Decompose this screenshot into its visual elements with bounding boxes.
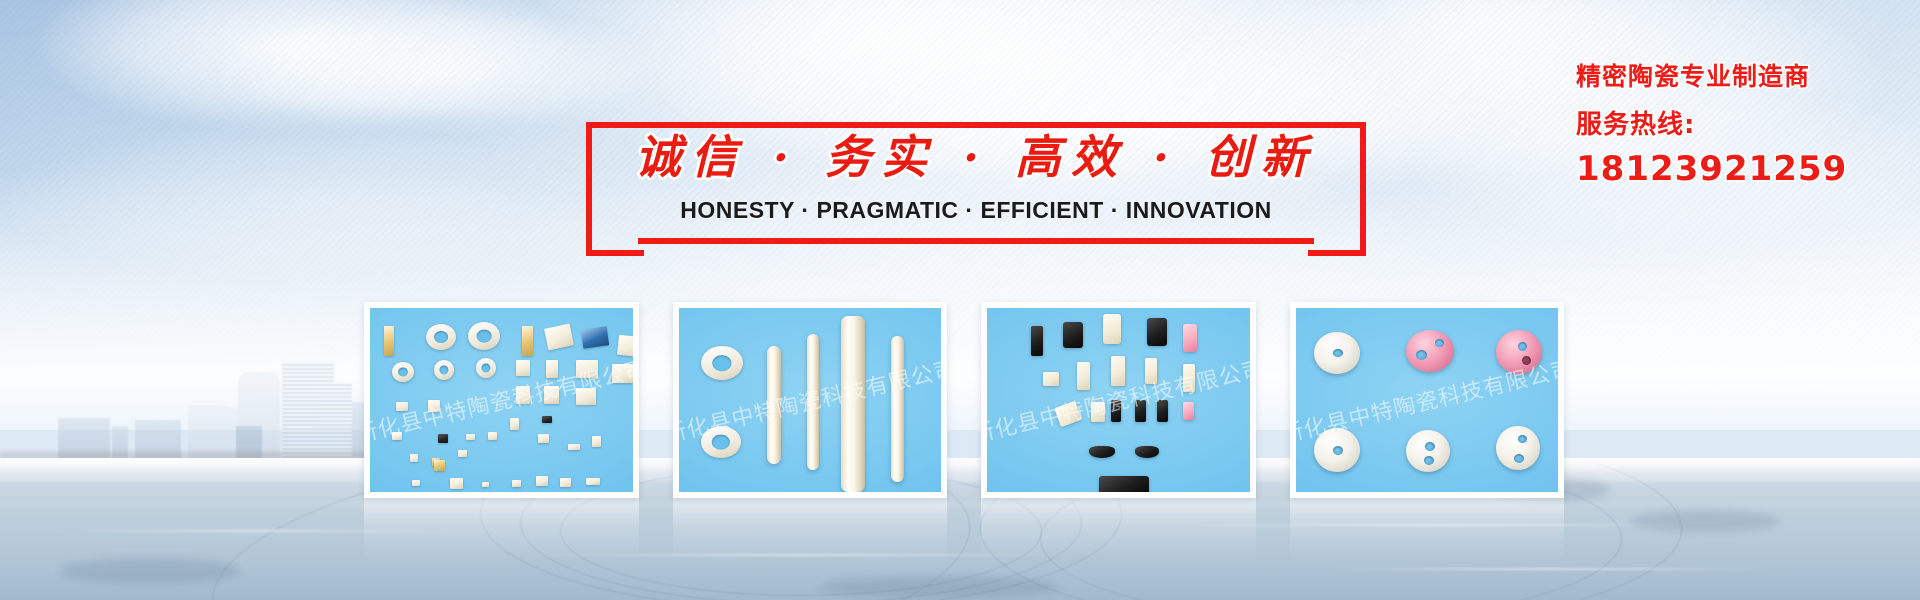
hotline-number[interactable]: 18123921259 [1576,148,1847,190]
slogan-chinese: 诚信 · 务实 · 高效 · 创新 [586,122,1366,192]
product-parts-group [1296,308,1559,492]
product-panel-ceramic-tubes[interactable]: 新化县中特陶瓷科技有限公司 [673,302,948,498]
product-parts-group [370,308,633,492]
product-parts-group [679,308,942,492]
product-banner: 诚信 · 务实 · 高效 · 创新 HONESTY · PRAGMATIC · … [0,0,1920,600]
company-tagline: 精密陶瓷专业制造商 [1576,60,1847,94]
product-panel-ceramic-discs[interactable]: 新化县中特陶瓷科技有限公司 [1290,302,1565,498]
contact-block: 精密陶瓷专业制造商 服务热线: 18123921259 [1576,60,1847,190]
hotline-label: 服务热线: [1576,108,1847,142]
product-panel-smd-components[interactable]: 新化县中特陶瓷科技有限公司 [364,302,639,498]
slogan-english: HONESTY · PRAGMATIC · EFFICIENT · INNOVA… [586,194,1366,226]
slogan-block: 诚信 · 务实 · 高效 · 创新 HONESTY · PRAGMATIC · … [586,122,1366,244]
product-panel-ceramic-blocks[interactable]: 新化县中特陶瓷科技有限公司 [981,302,1256,498]
bracket-bottom-rule [638,238,1314,244]
product-panel-row: 新化县中特陶瓷科技有限公司 新化县中特陶瓷科技有限公司 [364,302,1564,498]
product-parts-group [987,308,1250,492]
